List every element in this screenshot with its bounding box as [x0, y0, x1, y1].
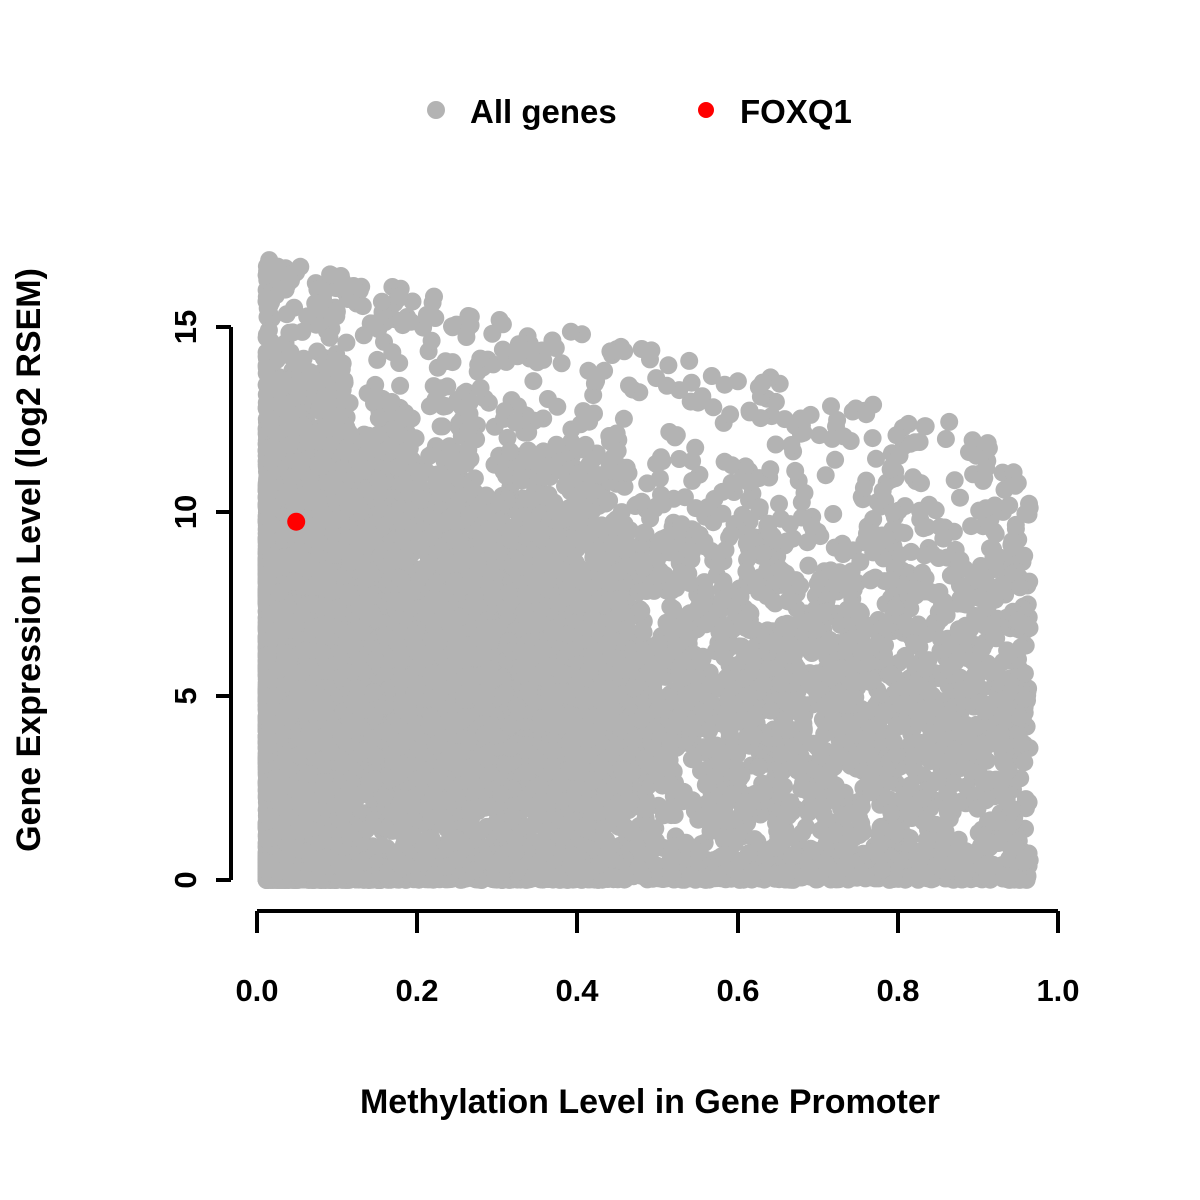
legend-marker-foxq1 — [698, 102, 714, 118]
data-point — [824, 505, 842, 523]
legend-label-foxq1: FOXQ1 — [740, 93, 852, 130]
plot-canvas: All genes FOXQ1 15 10 5 0 0.0 — [0, 0, 1200, 1200]
data-point — [951, 489, 969, 507]
scatter-plot-figure: All genes FOXQ1 15 10 5 0 0.0 — [0, 0, 1200, 1200]
legend-marker-all-genes — [427, 101, 445, 119]
data-point — [826, 451, 844, 469]
legend-label-all-genes: All genes — [470, 93, 617, 130]
